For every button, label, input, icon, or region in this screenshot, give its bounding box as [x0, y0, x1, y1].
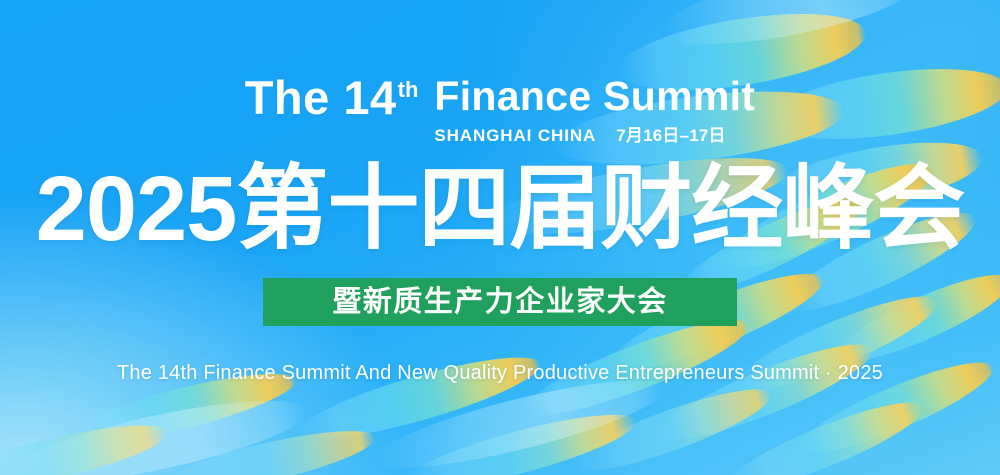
edition-number: The 14th — [245, 74, 419, 121]
location-date-row: SHANGHAI CHINA 7月16日–17日 — [434, 121, 755, 146]
footer-tagline: The 14th Finance Summit And New Quality … — [0, 362, 1000, 385]
headline-right-stack: Finance Summit SHANGHAI CHINA 7月16日–17日 — [434, 74, 755, 146]
banner-content: The 14th Finance Summit SHANGHAI CHINA 7… — [0, 0, 1000, 475]
date-label: 7月16日–17日 — [616, 121, 726, 146]
page-title: 2025第十四届财经峰会 — [0, 163, 1000, 255]
english-title: Finance Summit — [434, 75, 755, 118]
subtitle-banner-label: 暨新质生产力企业家大会 — [332, 288, 668, 317]
event-banner: The 14th Finance Summit SHANGHAI CHINA 7… — [0, 0, 1000, 475]
headline-row: The 14th Finance Summit SHANGHAI CHINA 7… — [0, 74, 1000, 146]
headline-inner: The 14th Finance Summit SHANGHAI CHINA 7… — [245, 74, 756, 146]
city-label: SHANGHAI CHINA — [434, 126, 596, 146]
subtitle-banner: 暨新质生产力企业家大会 — [263, 278, 737, 326]
edition-prefix: The 14 — [245, 71, 397, 124]
edition-ordinal-suffix: th — [398, 77, 419, 102]
